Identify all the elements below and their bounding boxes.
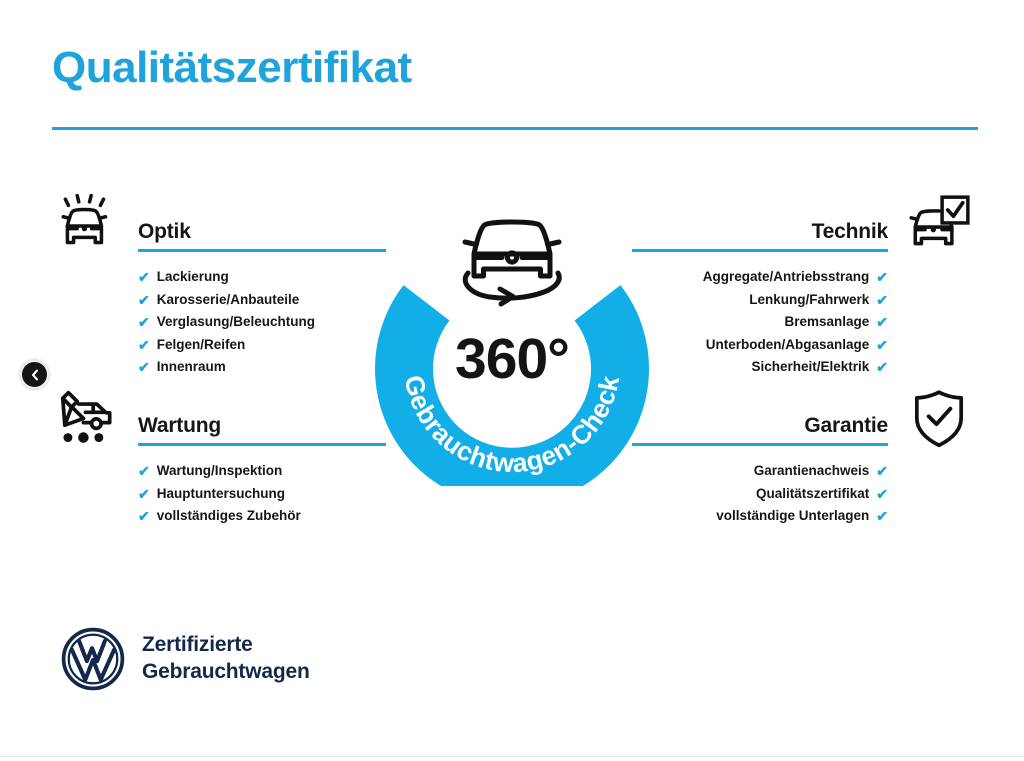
check-icon: ✔: [138, 315, 150, 329]
section-divider: [632, 249, 888, 252]
check-icon: ✔: [876, 464, 888, 478]
check-icon: ✔: [876, 360, 888, 374]
list-item-label: Bremsanlage: [784, 311, 869, 334]
list-item: ✔Wartung/Inspektion: [46, 460, 386, 483]
check-icon: ✔: [876, 293, 888, 307]
list-item: ✔Innenraum: [46, 356, 386, 379]
section-title: Technik: [812, 220, 888, 244]
chevron-left-icon: [29, 369, 41, 381]
check-icon: ✔: [138, 338, 150, 352]
optik-check-list: ✔Lackierung ✔Karosserie/Anbauteile ✔Verg…: [46, 252, 386, 379]
check-icon: ✔: [876, 315, 888, 329]
list-item: Bremsanlage✔: [632, 311, 972, 334]
list-item: Lenkung/Fahrwerk✔: [632, 289, 972, 312]
page-title: Qualitätszertifikat: [52, 44, 412, 92]
list-item-label: Sicherheit/Elektrik: [751, 356, 869, 379]
check-icon: ✔: [138, 270, 150, 284]
list-item-label: Lenkung/Fahrwerk: [749, 289, 869, 312]
check-icon: ✔: [138, 509, 150, 523]
section-divider: [632, 443, 888, 446]
vw-logo-icon: [60, 626, 126, 692]
section-wartung: Wartung ✔Wartung/Inspektion ✔Hauptunters…: [46, 394, 386, 528]
section-divider: [138, 249, 386, 252]
list-item-label: Lackierung: [157, 266, 229, 289]
check-icon: ✔: [138, 464, 150, 478]
section-optik: Optik ✔Lackierung ✔Karosserie/Anbauteile…: [46, 200, 386, 379]
vw-brand-text: Zertifizierte Gebrauchtwagen: [142, 632, 310, 686]
check-icon: ✔: [876, 509, 888, 523]
list-item: Garantienachweis✔: [632, 460, 972, 483]
section-title: Optik: [138, 220, 191, 244]
check-icon: ✔: [876, 487, 888, 501]
list-item: Aggregate/Antriebsstrang✔: [632, 266, 972, 289]
certificate-page: Qualitätszertifikat: [0, 0, 1024, 761]
list-item-label: Felgen/Reifen: [157, 334, 246, 357]
section-title: Wartung: [138, 414, 221, 438]
list-item-label: vollständige Unterlagen: [716, 505, 869, 528]
badge-degrees-label: 360°: [455, 327, 569, 391]
list-item: ✔Verglasung/Beleuchtung: [46, 311, 386, 334]
header-divider: [52, 127, 978, 130]
vw-brand-line-2: Gebrauchtwagen: [142, 659, 310, 686]
list-item-label: Wartung/Inspektion: [157, 460, 283, 483]
list-item-label: vollständiges Zubehör: [157, 505, 301, 528]
check-icon: ✔: [138, 487, 150, 501]
section-title: Garantie: [804, 414, 888, 438]
vw-brand-lockup: Zertifizierte Gebrauchtwagen: [60, 626, 310, 692]
section-technik: Technik Aggregate/Antriebsstrang✔ Lenkun…: [632, 200, 972, 379]
list-item: ✔Karosserie/Anbauteile: [46, 289, 386, 312]
list-item-label: Garantienachweis: [754, 460, 870, 483]
list-item: Sicherheit/Elektrik✔: [632, 356, 972, 379]
list-item-label: Hauptuntersuchung: [157, 483, 285, 506]
section-garantie: Garantie Garantienachweis✔ Qualitätszert…: [632, 394, 972, 528]
garantie-check-list: Garantienachweis✔ Qualitätszertifikat✔ v…: [632, 446, 972, 528]
section-divider: [138, 443, 386, 446]
wartung-check-list: ✔Wartung/Inspektion ✔Hauptuntersuchung ✔…: [46, 446, 386, 528]
bottom-edge-line: [0, 756, 1024, 757]
list-item: Unterboden/Abgasanlage✔: [632, 334, 972, 357]
list-item: ✔Hauptuntersuchung: [46, 483, 386, 506]
vw-brand-line-1: Zertifizierte: [142, 632, 310, 659]
list-item-label: Karosserie/Anbauteile: [157, 289, 300, 312]
list-item-label: Qualitätszertifikat: [756, 483, 869, 506]
list-item: Qualitätszertifikat✔: [632, 483, 972, 506]
list-item-label: Verglasung/Beleuchtung: [157, 311, 315, 334]
check-icon: ✔: [876, 270, 888, 284]
badge-360-check: Gebrauchtwagen-Check 360°: [372, 186, 652, 486]
prev-slide-button[interactable]: [20, 360, 49, 389]
list-item-label: Innenraum: [157, 356, 226, 379]
list-item-label: Aggregate/Antriebsstrang: [703, 266, 870, 289]
check-icon: ✔: [876, 338, 888, 352]
list-item: ✔Lackierung: [46, 266, 386, 289]
list-item: ✔vollständiges Zubehör: [46, 505, 386, 528]
list-item: ✔Felgen/Reifen: [46, 334, 386, 357]
technik-check-list: Aggregate/Antriebsstrang✔ Lenkung/Fahrwe…: [632, 252, 972, 379]
list-item-label: Unterboden/Abgasanlage: [706, 334, 870, 357]
list-item: vollständige Unterlagen✔: [632, 505, 972, 528]
check-icon: ✔: [138, 293, 150, 307]
check-icon: ✔: [138, 360, 150, 374]
